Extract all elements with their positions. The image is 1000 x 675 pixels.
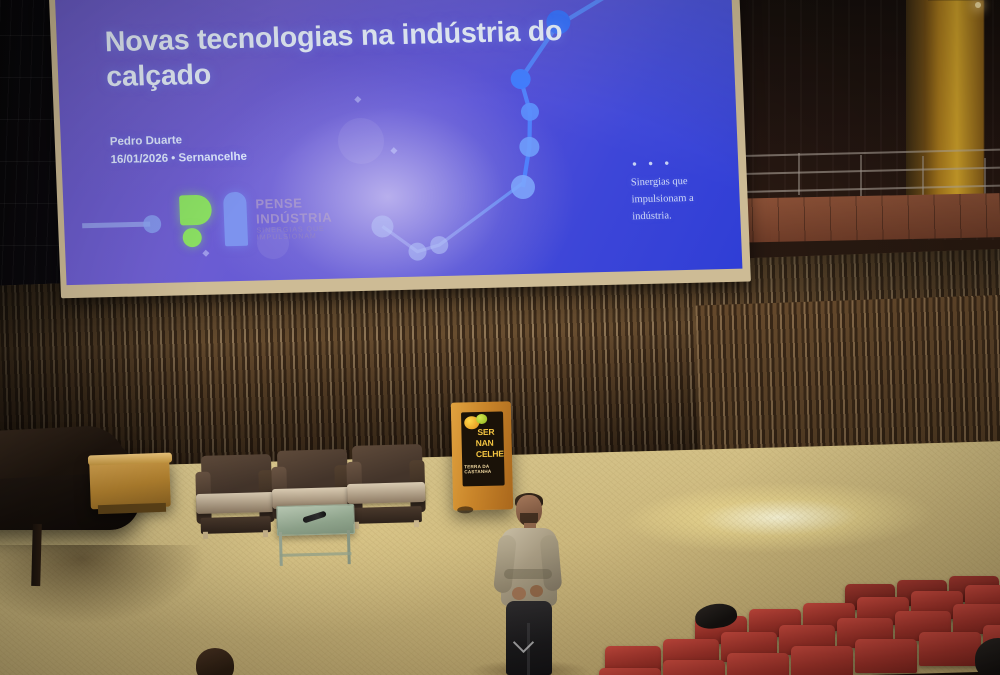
slide-tagline: Sinergias que impulsionam a indústria. [631,172,739,226]
tagline-dots: • • • [632,155,673,171]
armchair-foot [414,520,419,527]
theater-seat [919,632,981,666]
sparkle-icon [354,96,361,103]
table-top [276,504,355,536]
theater-seat [599,668,661,675]
presenter-sweater-fold [504,569,552,579]
armchair [195,454,275,538]
armchair-base [352,506,422,524]
slide-date-location: 16/01/2026 • Sernancelhe [110,149,247,170]
armchair-base [201,516,271,534]
table-lower-shelf [279,552,351,557]
glass-side-table [276,504,354,568]
presenter-hand-right [530,585,543,597]
ceiling-light-icon [975,2,981,8]
podium-word-3: CELHE [476,450,504,459]
piano-bench-leg [98,503,166,514]
tagline-line3: indústria. [632,206,739,226]
armchair-seat [196,492,274,514]
projection-screen: Novas tecnologias na indústria do calçad… [49,0,751,298]
pense-industria-logo: PENSE INDÚSTRIA SINERGIAS QUE IMPULSIONA… [179,189,361,251]
logo-name-line3: SINERGIAS QUE IMPULSIONAM [256,225,361,242]
logo-p-mark-icon [179,195,212,226]
logo-dot-icon [182,228,202,247]
presenter-hand-left [512,587,526,600]
armchair-foot [263,530,268,537]
balcony-front-band [726,193,1000,243]
table-leg-right [347,530,351,564]
piano-leg [31,524,42,586]
armchair-seat [347,482,425,504]
logo-name-line1: PENSE [255,195,303,211]
auditorium-photo: Novas tecnologias na indústria do calçad… [0,0,1000,675]
grand-piano [0,428,185,583]
theater-seat [791,646,853,675]
sparkle-icon [390,147,397,154]
podium-word-2: NAN [476,439,494,448]
theater-seat [727,653,789,675]
podium-subtitle: TERRA DA CASTANHA [464,463,512,474]
audience-seating [545,580,1000,675]
theater-seat [663,660,725,675]
armchair-foot [203,532,208,539]
table-leg-left [279,532,283,566]
theater-seat [855,639,917,673]
logo-i-mark-icon [223,192,248,247]
audience-head-foreground [196,648,234,675]
slide-title: Novas tecnologias na indústria do calçad… [104,14,577,96]
logo-name-line2: INDÚSTRIA [256,210,333,227]
projected-slide: Novas tecnologias na indústria do calçad… [55,0,742,285]
slide-meta: Pedro Duarte 16/01/2026 • Sernancelhe [110,131,248,170]
armchair [346,444,426,528]
podium-word-1: SER [477,428,494,437]
